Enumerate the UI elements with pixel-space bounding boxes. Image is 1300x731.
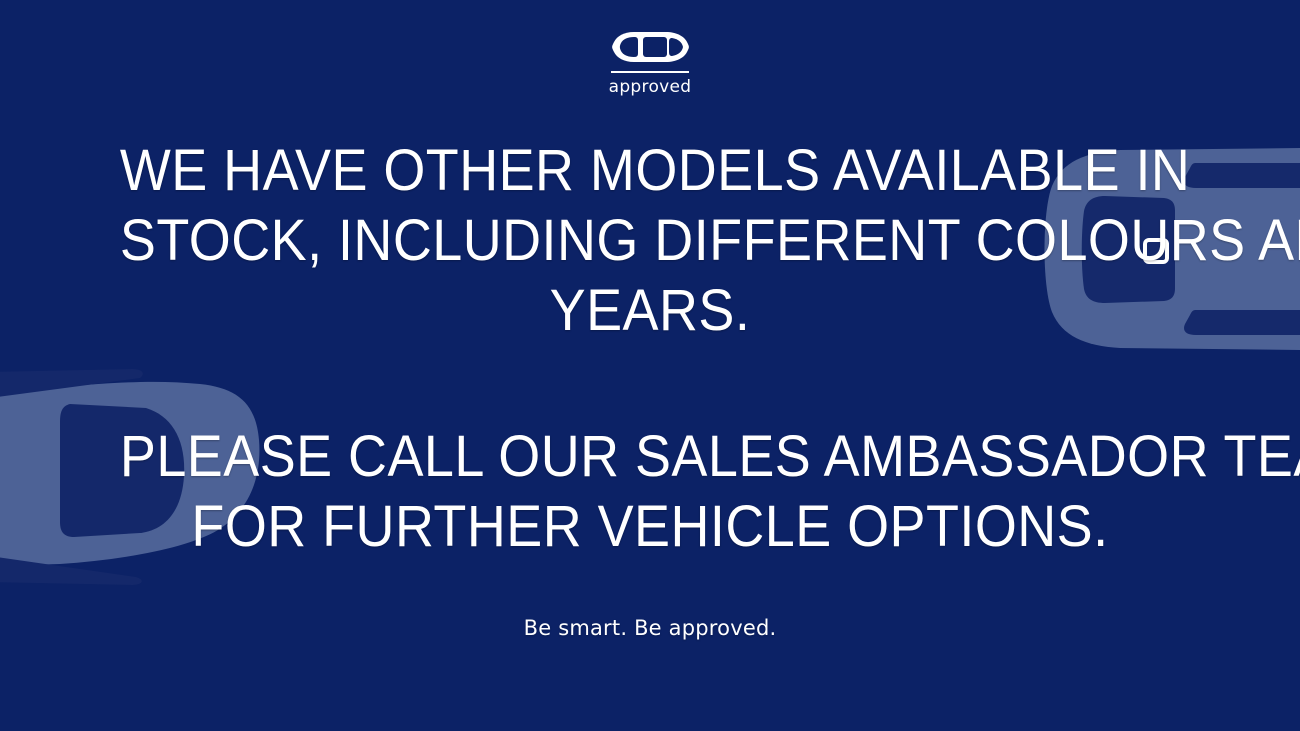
- message-paragraph-2: PLEASE CALL OUR SALES AMBASSADOR TEAM FO…: [120, 422, 1180, 562]
- brand-word: approved: [609, 78, 692, 97]
- brand-divider: [611, 71, 689, 73]
- message-paragraph-1: WE HAVE OTHER MODELS AVAILABLE IN STOCK,…: [120, 136, 1180, 346]
- message-line: YEARS.: [120, 276, 1180, 346]
- approved-car-logo-icon: [610, 30, 690, 64]
- promo-slide: approved WE HAVE OTHER MODELS AVAILABLE …: [0, 0, 1300, 731]
- brand-lockup: approved: [0, 30, 1300, 97]
- message-line: WE HAVE OTHER MODELS AVAILABLE IN: [120, 136, 1180, 206]
- message-line: PLEASE CALL OUR SALES AMBASSADOR TEAM: [120, 422, 1180, 492]
- message-line: FOR FURTHER VEHICLE OPTIONS.: [120, 492, 1180, 562]
- tagline: Be smart. Be approved.: [524, 614, 777, 642]
- message-content: WE HAVE OTHER MODELS AVAILABLE IN STOCK,…: [0, 0, 1300, 731]
- message-line: STOCK, INCLUDING DIFFERENT COLOURS AND: [120, 206, 1180, 276]
